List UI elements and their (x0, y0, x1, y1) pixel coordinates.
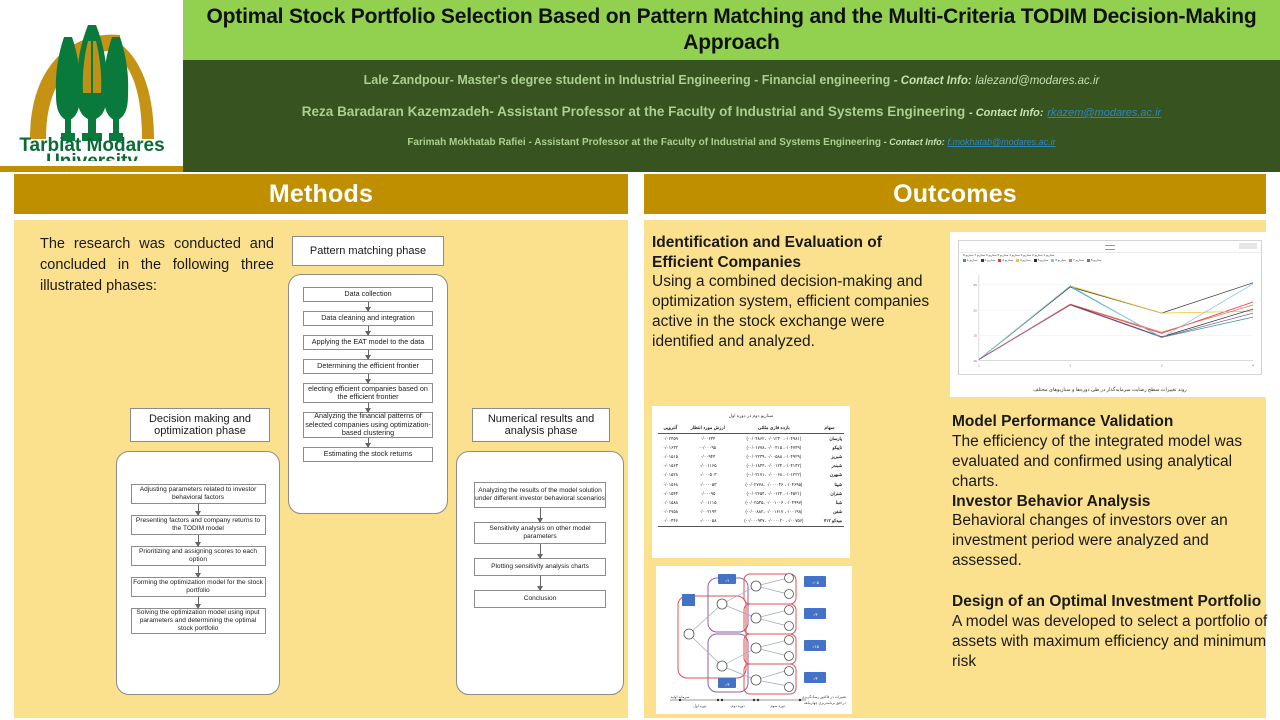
legend-color-swatch (1034, 259, 1037, 262)
poster-title-bar: Optimal Stock Portfolio Selection Based … (183, 0, 1280, 60)
table-row: شتران(۰/۰۴۵۲۱، ۰/۰۰۱۲۴ ،۰/۰۲۶۵۴-)۰/۰۰۰۹۵… (658, 489, 844, 498)
chart-svg: 101520251234 (961, 269, 1259, 372)
author-line-3: Farimah Mokhatab Rafiei - Assistant Prof… (183, 137, 1280, 148)
table-row: شنا(۰/۰۴۹۹۷، ۰/۰۰۱۰۰۶ ،۰/۰۲۵۳۵-)۰/۰۰۱۱۱۵… (658, 498, 844, 507)
table-row: شفن(۰/۰۰۱۹۸، ۰/۰۰۱۶۱۷ ،۰/۰۰۸۸۲-)۰/۰۰۲۱۹۴… (658, 508, 844, 517)
cell-expected-value: ۰/۰۰۰۰۵۳ (683, 480, 733, 489)
flow-arrow-icon (194, 504, 203, 515)
flow-arrow-icon (364, 302, 373, 311)
chart-x-tick-label: 3 (1161, 363, 1163, 367)
tree-node-box-initial (682, 594, 695, 606)
author-line-2: Reza Baradaran Kazemzadeh- Assistant Pro… (183, 104, 1280, 119)
table-header-row: سهام بازده فازی مثلثی ارزش مورد انتظار آ… (658, 423, 844, 434)
author-contact-label-2: - Contact Info: (969, 107, 1044, 119)
tree-stage-label: دوره دوم (731, 704, 745, 708)
flowchart-step: Plotting sensitivity analysis charts (474, 558, 606, 576)
legend-color-swatch (1069, 259, 1072, 262)
outcome-block-portfolio-design: Design of an Optimal Investment Portfoli… (952, 592, 1274, 672)
flowchart-step: Forming the optimization model for the s… (131, 577, 266, 597)
chart-options-icon[interactable] (1239, 243, 1257, 249)
tree-probability-label: ۰/۳ (812, 612, 818, 617)
cell-stock: تاپیکو (815, 443, 844, 452)
scenario-tree-caption: تغییرات در فاکتور رسک‌گریزی در افق برنام… (802, 695, 846, 706)
cell-fuzzy-return: (۰/۰۱۲۲۲، ۰/۰۰۰۶۸ ،۰/۰۲۱۷۱-) (733, 471, 815, 480)
flowchart-step: Analyzing the financial patterns of sele… (303, 412, 433, 438)
cell-entropy: ۰/۰۲۴۵۹ (658, 434, 683, 444)
tree-probability-label: ۰/۴ (812, 676, 817, 681)
cell-fuzzy-return: (۰/۰۰۱۹۸، ۰/۰۰۱۶۱۷ ،۰/۰۰۸۸۲-) (733, 508, 815, 517)
cell-stock: شنا (815, 498, 844, 507)
cell-stock: شتران (815, 489, 844, 498)
table-row: شبندر(۰/۰۴۱۴۲، ۰/۰۰۱۲۴ ،۰/۰۱۸۴۴-)۰/۰۰۱۱۶… (658, 462, 844, 471)
tree-stage-label: سرمایه اولیه (671, 694, 691, 699)
chart-x-tick-label: 2 (1069, 363, 1071, 367)
logo-gold-divider (0, 166, 183, 172)
legend-color-swatch (981, 259, 984, 262)
cell-entropy: ۰/۰۱۶۳۲ (658, 443, 683, 452)
legend-item[interactable]: سناریو 5 (1034, 259, 1049, 262)
flowchart-title-pattern-matching: Pattern matching phase (292, 236, 444, 266)
author-contact-label-3: - Contact Info: (884, 137, 945, 147)
cell-entropy: ۰/۰۱۵۲۸ (658, 471, 683, 480)
flowchart-step: Sensitivity analysis on other model para… (474, 522, 606, 544)
figure-scenario-tree: سرمایه اولیهدوره اولدوره دومدوره سوم ۰/۰… (656, 566, 852, 714)
chart-y-tick-label: 10 (973, 359, 977, 363)
flow-arrow-icon (194, 566, 203, 577)
flowchart-step: Analyzing the results of the model solut… (474, 482, 606, 508)
figure-satisfaction-line-chart: سناریو 1 سناریو 2 سناریو 3 سناریو 4 سنار… (950, 232, 1270, 397)
flowchart-step: Adjusting parameters related to investor… (131, 484, 266, 504)
outcome-heading: Design of an Optimal Investment Portfoli… (952, 592, 1274, 612)
flow-arrow-icon (364, 438, 373, 447)
author-email-2[interactable]: rkazem@modares.ac.ir (1047, 107, 1161, 119)
cell-entropy: ۰/۰۱۵۴۴ (658, 489, 683, 498)
flowchart-title-decision-making: Decision making and optimization phase (130, 408, 270, 442)
cell-stock: شبهرن (815, 471, 844, 480)
cell-expected-value: ۰/۰۰۲۱۹۴ (683, 508, 733, 517)
chart-toolbar[interactable] (959, 241, 1261, 253)
legend-label: سناریو 5 (1038, 259, 1049, 262)
cell-expected-value: ۰/۰۰۱۱۱۵ (683, 498, 733, 507)
flowchart-decision-making-phase: Decision making and optimization phase A… (116, 408, 280, 695)
cell-fuzzy-return: (۰/۰۴۷۴۹، ۰/۰۰۴۱۵ ،۰/۰۱۷۷۸-) (733, 443, 815, 452)
legend-item[interactable]: سناریو 7 (1069, 259, 1084, 262)
flowchart-step: Data cleaning and integration (303, 311, 433, 326)
table-col-expected-value: ارزش مورد انتظار (683, 423, 733, 434)
cell-stock: پارسان (815, 434, 844, 444)
chart-plot-area: 101520251234 (961, 269, 1259, 372)
cell-expected-value: ۰/۰۰۰۵۰۳ (683, 471, 733, 480)
results-table: سهام بازده فازی مثلثی ارزش مورد انتظار آ… (658, 423, 844, 527)
flowchart-body-numerical-results: Analyzing the results of the model solut… (456, 451, 624, 695)
chart-legend-swatches: سناریو 1سناریو 2سناریو 3سناریو 4سناریو 5… (963, 259, 1257, 262)
poster-title: Optimal Stock Portfolio Selection Based … (183, 4, 1280, 55)
outcome-body: Using a combined decision-making and opt… (652, 272, 942, 352)
chart-legend-header: سناریو 1 سناریو 2 سناریو 3 سناریو 4 سنار… (963, 254, 1257, 257)
cell-entropy: ۰/۰۲۷۵۸ (658, 508, 683, 517)
flow-arrow-icon (364, 403, 373, 412)
legend-label: سناریو 2 (985, 259, 996, 262)
tree-node-value-label: ۰/۱ (724, 578, 729, 583)
cell-fuzzy-return: (۰/۰۴۵۲۱، ۰/۰۰۱۲۴ ،۰/۰۲۶۵۴-) (733, 489, 815, 498)
flowchart-step: Prioritizing and assigning scores to eac… (131, 546, 266, 566)
cell-fuzzy-return: (۰/۰۰۷۵۶، ۰/۰۰۰۰۲۰ ،۰/۰۰۰۹۴۷-) (733, 517, 815, 527)
author-contact-label-1: - Contact Info: (894, 75, 972, 87)
chart-series-line (979, 286, 1253, 360)
legend-label: سناریو 8 (1091, 259, 1102, 262)
chart-series-line (979, 305, 1253, 360)
table-row: شپنا(۰/۰۴۶۹۵، ۰/۰۰۰۰۴۶ ،۰/۰۲۷۷۸-)۰/۰۰۰۰۵… (658, 480, 844, 489)
flowchart-pattern-matching-phase: Pattern matching phase Data collection D… (288, 236, 448, 514)
tree-stage-label: دوره اول (693, 703, 707, 708)
chart-series-line (979, 287, 1253, 360)
cell-expected-value: ۰/۰۰۱۱۶۵ (683, 462, 733, 471)
cell-fuzzy-return: (۰/۰۴۹۲۹، ۰/۰۰۵۸۸ ،۰/۰۲۲۳۹-) (733, 452, 815, 461)
table-row: میدکو ۷۱۲(۰/۰۰۷۵۶، ۰/۰۰۰۰۲۰ ،۰/۰۰۰۹۴۷-)۰… (658, 517, 844, 527)
outcome-heading: Identification and Evaluation of Efficie… (652, 233, 942, 272)
flowchart-body-pattern-matching: Data collection Data cleaning and integr… (288, 274, 448, 514)
cell-entropy: ۰/۰۱۵۸۸ (658, 498, 683, 507)
flow-arrow-icon (194, 597, 203, 608)
methods-banner-label: Methods (269, 180, 373, 209)
legend-color-swatch (963, 259, 966, 262)
cell-stock: میدکو ۷۱۲ (815, 517, 844, 527)
flowchart-numerical-results-phase: Numerical results and analysis phase Ana… (456, 408, 624, 695)
author-email-1[interactable]: lalezand@modares.ac.ir (975, 75, 1099, 87)
chart-y-tick-label: 15 (973, 334, 977, 338)
flowchart-step: Estimating the stock returns (303, 447, 433, 462)
figure-results-table: سناریو دوم در دوره اول سهام بازده فازی م… (652, 406, 850, 558)
group-rect-purple-top (708, 578, 748, 632)
flowchart-step: Solving the optimization model using inp… (131, 608, 266, 634)
flow-arrow-icon (536, 544, 545, 558)
legend-item[interactable]: سناریو 3 (998, 259, 1013, 262)
cell-fuzzy-return: (۰/۰۴۹۸۱، ۰/۰۱۲۳۰ ،۰/۰۴۸۶۲-) (733, 434, 815, 444)
tree-caption-line-1: تغییرات در فاکتور رسک‌گریزی (802, 695, 846, 700)
legend-color-swatch (1051, 259, 1054, 262)
logo-text-line2: University (46, 151, 138, 161)
chart-x-tick-label: 4 (1252, 363, 1254, 367)
cell-fuzzy-return: (۰/۰۴۶۹۵، ۰/۰۰۰۰۴۶ ،۰/۰۲۷۷۸-) (733, 480, 815, 489)
scenario-tree-svg: سرمایه اولیهدوره اولدوره دومدوره سوم ۰/۰… (656, 566, 852, 714)
cell-expected-value: ۰/۰۰۰۰۵۸ (683, 517, 733, 527)
legend-item[interactable]: سناریو 4 (1016, 259, 1031, 262)
cell-stock: شپنا (815, 480, 844, 489)
flow-arrow-icon (364, 374, 373, 383)
cell-entropy: ۰/۰۱۵۶۸ (658, 480, 683, 489)
flowchart-step: electing efficient companies based on th… (303, 383, 433, 403)
author-line-1: Lale Zandpour- Master's degree student i… (183, 73, 1280, 87)
legend-label: سناریو 6 (1055, 259, 1066, 262)
table-row: پارسان(۰/۰۴۹۸۱، ۰/۰۱۲۳۰ ،۰/۰۴۸۶۲-)۰/۰۰۶۳… (658, 434, 844, 444)
table-caption: سناریو دوم در دوره اول (652, 413, 850, 419)
flow-arrow-icon (364, 350, 373, 359)
tree-caption-line-2: در افق برنامه‌ریزی چهارماهه (802, 701, 846, 706)
outcome-block-identification: Identification and Evaluation of Efficie… (652, 233, 942, 352)
university-logo: Tarbiat Modares University (0, 0, 183, 172)
authors-bar: Lale Zandpour- Master's degree student i… (183, 60, 1280, 172)
tree-probability-label: ۰/۰۵ (811, 580, 819, 585)
table-col-fuzzy-return: بازده فازی مثلثی (733, 423, 815, 434)
chart-frame: سناریو 1 سناریو 2 سناریو 3 سناریو 4 سنار… (958, 240, 1262, 375)
table-row: شبهرن(۰/۰۱۲۲۲، ۰/۰۰۰۶۸ ،۰/۰۲۱۷۱-)۰/۰۰۰۵۰… (658, 471, 844, 480)
legend-item[interactable]: سناریو 1 (963, 259, 978, 262)
flowchart-step: Determining the efficient frontier (303, 359, 433, 374)
outcome-block-validation-and-behavior: Model Performance Validation The efficie… (952, 412, 1274, 571)
table-col-entropy: آنتروپی (658, 423, 683, 434)
author-email-3[interactable]: f.mokhatab@modares.ac.ir (948, 137, 1056, 147)
legend-color-swatch (1016, 259, 1019, 262)
flowchart-step: Data collection (303, 287, 433, 302)
author-name-3: Farimah Mokhatab Rafiei - Assistant Prof… (407, 137, 881, 148)
outcomes-banner-label: Outcomes (893, 180, 1017, 209)
flowchart-body-decision-making: Adjusting parameters related to investor… (116, 451, 280, 695)
flowchart-step: Conclusion (474, 590, 606, 608)
chart-series-line (979, 302, 1253, 360)
legend-item[interactable]: سناریو 6 (1051, 259, 1066, 262)
cell-fuzzy-return: (۰/۰۴۱۴۲، ۰/۰۰۱۲۴ ،۰/۰۱۸۴۴-) (733, 462, 815, 471)
cell-expected-value: ۰/۰۰۶۳۴ (683, 434, 733, 444)
cell-entropy: ۰/۰۰۴۴۶ (658, 517, 683, 527)
outcome-body: The efficiency of the integrated model w… (952, 432, 1274, 492)
poster-root: Tarbiat Modares University Optimal Stock… (0, 0, 1280, 720)
methods-intro-text: The research was conducted and concluded… (40, 234, 274, 297)
table-row: شبریز(۰/۰۴۹۲۹، ۰/۰۰۵۸۸ ،۰/۰۲۲۳۹-)۰/۰۰۹۴۴… (658, 452, 844, 461)
outcome-heading: Investor Behavior Analysis (952, 492, 1274, 512)
tree-stage-label: دوره سوم (770, 704, 785, 708)
flowchart-step: Presenting factors and company returns t… (131, 515, 266, 535)
tree-probability-label: ۰/۱۵ (811, 644, 819, 649)
methods-section-banner: Methods (14, 174, 628, 214)
cell-stock: شبریز (815, 452, 844, 461)
chart-legend: سناریو 1 سناریو 2 سناریو 3 سناریو 4 سنار… (963, 254, 1257, 268)
outcomes-section-banner: Outcomes (644, 174, 1266, 214)
cell-stock: شفن (815, 508, 844, 517)
flowchart-step: Applying the EAT model to the data (303, 335, 433, 350)
legend-label: سناریو 1 (967, 259, 978, 262)
chart-y-tick-label: 25 (973, 283, 977, 287)
legend-color-swatch (998, 259, 1001, 262)
legend-item[interactable]: سناریو 2 (981, 259, 996, 262)
chart-series-line (979, 305, 1253, 360)
legend-item[interactable]: سناریو 8 (1087, 259, 1102, 262)
outcome-heading: Model Performance Validation (952, 412, 1274, 432)
cell-entropy: ۰/۰۱۵۱۵ (658, 452, 683, 461)
flow-arrow-icon (536, 508, 545, 522)
table-col-stock: سهام (815, 423, 844, 434)
flowchart-title-numerical-results: Numerical results and analysis phase (472, 408, 610, 442)
flow-arrow-icon (536, 576, 545, 590)
cell-entropy: ۰/۰۱۵۶۳ (658, 462, 683, 471)
flow-arrow-icon (194, 535, 203, 546)
chart-handle-icon[interactable] (1105, 245, 1115, 250)
cell-expected-value: ۰/۰۰۹۴۴ (683, 452, 733, 461)
cell-expected-value: ۰/۰۰۰۹۵ (683, 489, 733, 498)
outcome-body: Behavioral changes of investors over an … (952, 511, 1274, 571)
chart-caption: روند تغییرات سطح رضایت سرمایه‌گذار در طی… (950, 387, 1270, 393)
chart-y-tick-label: 20 (973, 309, 977, 313)
outcome-body: A model was developed to select a portfo… (952, 612, 1274, 672)
chart-x-tick-label: 1 (978, 363, 980, 367)
cell-expected-value: ۰/۰۰۰۹۵- (683, 443, 733, 452)
flow-arrow-icon (364, 326, 373, 335)
cell-fuzzy-return: (۰/۰۴۹۹۷، ۰/۰۰۱۰۰۶ ،۰/۰۲۵۳۵-) (733, 498, 815, 507)
legend-label: سناریو 4 (1020, 259, 1031, 262)
cell-stock: شبندر (815, 462, 844, 471)
legend-label: سناریو 3 (1002, 259, 1013, 262)
tree-node-value-label: ۰/۳ (724, 682, 730, 687)
logo-graphic: Tarbiat Modares University (12, 11, 172, 161)
author-name-2: Reza Baradaran Kazemzadeh- Assistant Pro… (302, 104, 965, 119)
author-name-1: Lale Zandpour- Master's degree student i… (364, 73, 891, 87)
table-row: تاپیکو(۰/۰۴۷۴۹، ۰/۰۰۴۱۵ ،۰/۰۱۷۷۸-)۰/۰۰۰۹… (658, 443, 844, 452)
legend-label: سناریو 7 (1073, 259, 1084, 262)
legend-color-swatch (1087, 259, 1090, 262)
